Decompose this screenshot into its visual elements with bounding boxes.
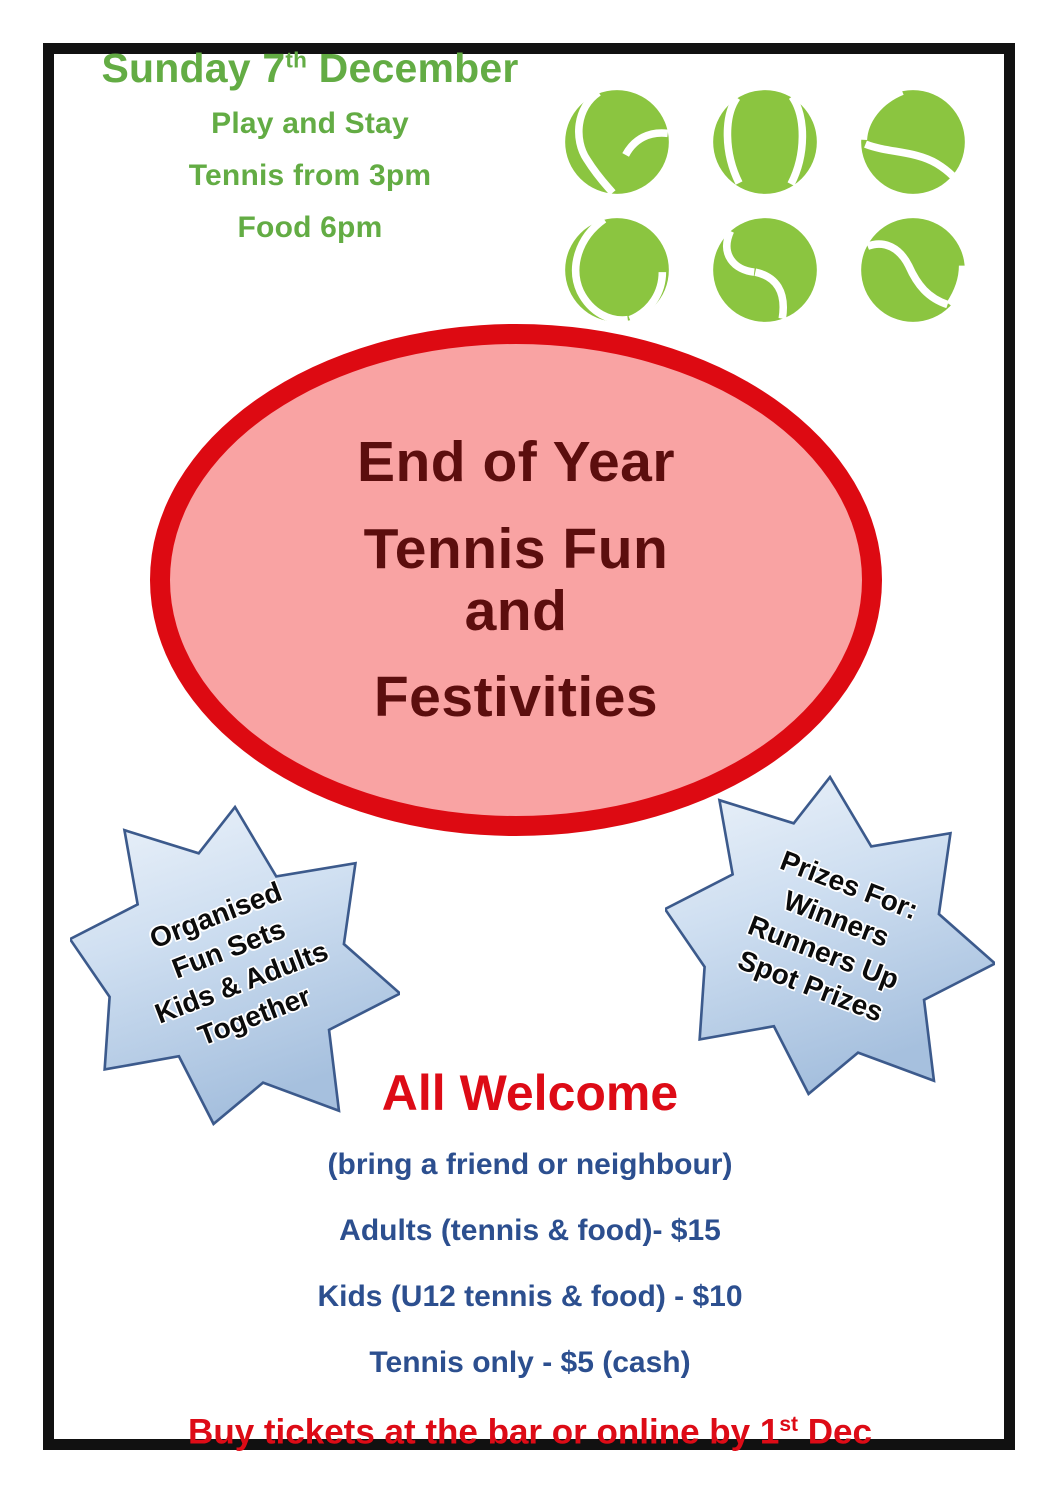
bring-a-friend-line: (bring a friend or neighbour) (55, 1150, 1005, 1180)
header-line-food-time: Food 6pm (60, 213, 560, 243)
event-date: Sunday 7th December (60, 48, 560, 89)
tennis-ball-icon (563, 216, 671, 324)
tennis-ball-group (563, 88, 963, 323)
price-line-adults: Adults (tennis & food)- $15 (55, 1216, 1005, 1246)
poster-root: Sunday 7th December Play and Stay Tennis… (0, 0, 1060, 1499)
star-badge-prizes: Prizes For: Winners Runners Up Spot Priz… (665, 768, 995, 1103)
buy-tickets-line: Buy tickets at the bar or online by 1st … (55, 1414, 1005, 1450)
all-welcome-heading: All Welcome (55, 1068, 1005, 1118)
event-date-text: Sunday 7 (101, 45, 285, 91)
title-line-1: End of Year (357, 432, 675, 492)
bottom-info-block: All Welcome (bring a friend or neighbour… (55, 1068, 1005, 1450)
header-text-block: Sunday 7th December Play and Stay Tennis… (60, 48, 560, 265)
price-line-kids: Kids (U12 tennis & food) - $10 (55, 1282, 1005, 1312)
header-line-tennis-time: Tennis from 3pm (60, 161, 560, 191)
tennis-ball-icon (859, 88, 967, 196)
buy-tickets-ordinal: st (779, 1413, 798, 1436)
tennis-ball-icon (859, 216, 967, 324)
event-date-month: December (307, 45, 518, 91)
tennis-ball-icon (563, 88, 671, 196)
tennis-ball-icon (711, 216, 819, 324)
title-line-2: Tennis Fun (364, 519, 669, 579)
header-line-play-and-stay: Play and Stay (60, 109, 560, 139)
event-date-ordinal: th (285, 47, 307, 72)
tennis-ball-icon (711, 88, 819, 196)
buy-tickets-month: Dec (798, 1413, 872, 1452)
price-line-tennis-only: Tennis only - $5 (cash) (55, 1348, 1005, 1378)
title-line-4: Festivities (374, 667, 658, 727)
buy-tickets-text: Buy tickets at the bar or online by 1 (188, 1413, 779, 1452)
title-line-3: and (465, 581, 568, 641)
